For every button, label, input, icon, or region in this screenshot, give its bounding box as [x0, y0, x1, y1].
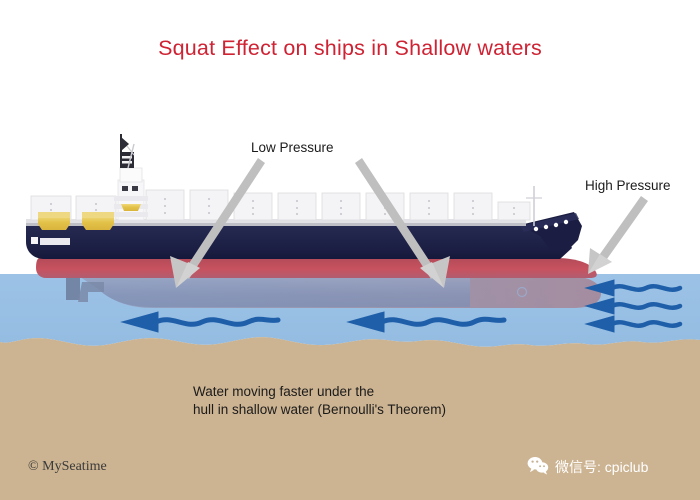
- hull-waterline-stripe: [36, 258, 597, 278]
- hull-submerged: [66, 276, 601, 308]
- stern-marking: [31, 237, 38, 244]
- ship: [26, 134, 601, 308]
- scene-illustration: [0, 0, 700, 500]
- superstructure: [114, 134, 148, 220]
- diagram-canvas: Squat Effect on ships in Shallow waters …: [0, 0, 700, 500]
- wechat-id-text: 微信号: cpiclub: [555, 457, 648, 477]
- porthole: [534, 227, 538, 231]
- lifeboat: [121, 204, 141, 211]
- porthole: [554, 223, 558, 227]
- caption-line-2: hull in shallow water (Bernoulli's Theor…: [193, 401, 446, 419]
- rudder: [66, 276, 80, 300]
- gray-arrow-icon-high: [588, 196, 648, 274]
- label-low-pressure: Low Pressure: [251, 140, 334, 155]
- watermark-wechat: 微信号: cpiclub: [527, 456, 648, 478]
- stern-plate: [40, 238, 70, 245]
- porthole: [564, 220, 568, 224]
- mast-flag: [121, 137, 129, 151]
- watermark-myseatime: © MySeatime: [28, 459, 107, 475]
- porthole: [544, 225, 548, 229]
- wechat-icon: [527, 456, 549, 478]
- caption-line-1: Water moving faster under the: [193, 383, 446, 401]
- page-title: Squat Effect on ships in Shallow waters: [0, 36, 700, 61]
- caption-block: Water moving faster under the hull in sh…: [193, 383, 446, 419]
- label-high-pressure: High Pressure: [585, 178, 671, 193]
- flow-arrows-bow: [586, 280, 680, 332]
